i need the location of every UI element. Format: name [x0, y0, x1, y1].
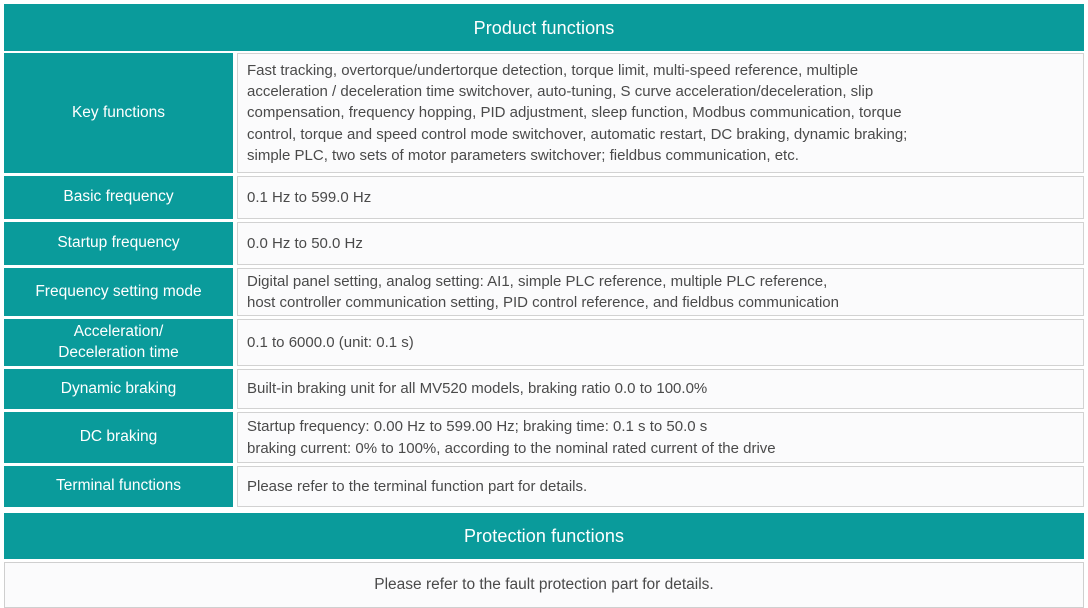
value-line: 0.1 Hz to 599.0 Hz — [247, 187, 1083, 208]
value-line: control, torque and speed control mode s… — [247, 124, 1083, 145]
value-line: Startup frequency: 0.00 Hz to 599.00 Hz;… — [247, 416, 1083, 437]
section-header-product-functions: Product functions — [4, 4, 1084, 51]
row-label-frequency-setting-mode: Frequency setting mode — [4, 268, 233, 316]
row-label-dynamic-braking: Dynamic braking — [4, 369, 233, 409]
row-label-terminal-functions: Terminal functions — [4, 466, 233, 507]
table-row: DC braking Startup frequency: 0.00 Hz to… — [4, 412, 1084, 463]
value-line: compensation, frequency hopping, PID adj… — [247, 102, 1083, 123]
row-label-acceleration-deceleration-time: Acceleration/ Deceleration time — [4, 319, 233, 366]
value-line: host controller communication setting, P… — [247, 292, 1083, 313]
row-label-dc-braking: DC braking — [4, 412, 233, 463]
row-value-frequency-setting-mode: Digital panel setting, analog setting: A… — [237, 268, 1084, 316]
value-line: 0.1 to 6000.0 (unit: 0.1 s) — [247, 332, 1083, 353]
table-row: Key functions Fast tracking, overtorque/… — [4, 53, 1084, 173]
table-row: Startup frequency 0.0 Hz to 50.0 Hz — [4, 222, 1084, 265]
value-line: acceleration / deceleration time switcho… — [247, 81, 1083, 102]
value-line: Digital panel setting, analog setting: A… — [247, 271, 1083, 292]
value-line: simple PLC, two sets of motor parameters… — [247, 145, 1083, 166]
product-specifications-table: Product functions Key functions Fast tra… — [4, 4, 1084, 608]
value-line: Built-in braking unit for all MV520 mode… — [247, 378, 1083, 399]
row-label-key-functions: Key functions — [4, 53, 233, 173]
value-line: Please refer to the terminal function pa… — [247, 476, 1083, 497]
table-row: Terminal functions Please refer to the t… — [4, 466, 1084, 507]
value-line: Fast tracking, overtorque/undertorque de… — [247, 60, 1083, 81]
table-row: Frequency setting mode Digital panel set… — [4, 268, 1084, 316]
protection-functions-note: Please refer to the fault protection par… — [4, 562, 1084, 608]
value-line: braking current: 0% to 100%, according t… — [247, 438, 1083, 459]
row-value-dynamic-braking: Built-in braking unit for all MV520 mode… — [237, 369, 1084, 409]
table-row: Dynamic braking Built-in braking unit fo… — [4, 369, 1084, 409]
table-row: Acceleration/ Deceleration time 0.1 to 6… — [4, 319, 1084, 366]
table-row: Basic frequency 0.1 Hz to 599.0 Hz — [4, 176, 1084, 219]
row-value-acceleration-deceleration-time: 0.1 to 6000.0 (unit: 0.1 s) — [237, 319, 1084, 366]
row-value-startup-frequency: 0.0 Hz to 50.0 Hz — [237, 222, 1084, 265]
row-value-basic-frequency: 0.1 Hz to 599.0 Hz — [237, 176, 1084, 219]
row-value-key-functions: Fast tracking, overtorque/undertorque de… — [237, 53, 1084, 173]
value-line: 0.0 Hz to 50.0 Hz — [247, 233, 1083, 254]
row-value-dc-braking: Startup frequency: 0.00 Hz to 599.00 Hz;… — [237, 412, 1084, 463]
row-value-terminal-functions: Please refer to the terminal function pa… — [237, 466, 1084, 507]
row-label-basic-frequency: Basic frequency — [4, 176, 233, 219]
section-header-protection-functions: Protection functions — [4, 513, 1084, 559]
row-label-startup-frequency: Startup frequency — [4, 222, 233, 265]
